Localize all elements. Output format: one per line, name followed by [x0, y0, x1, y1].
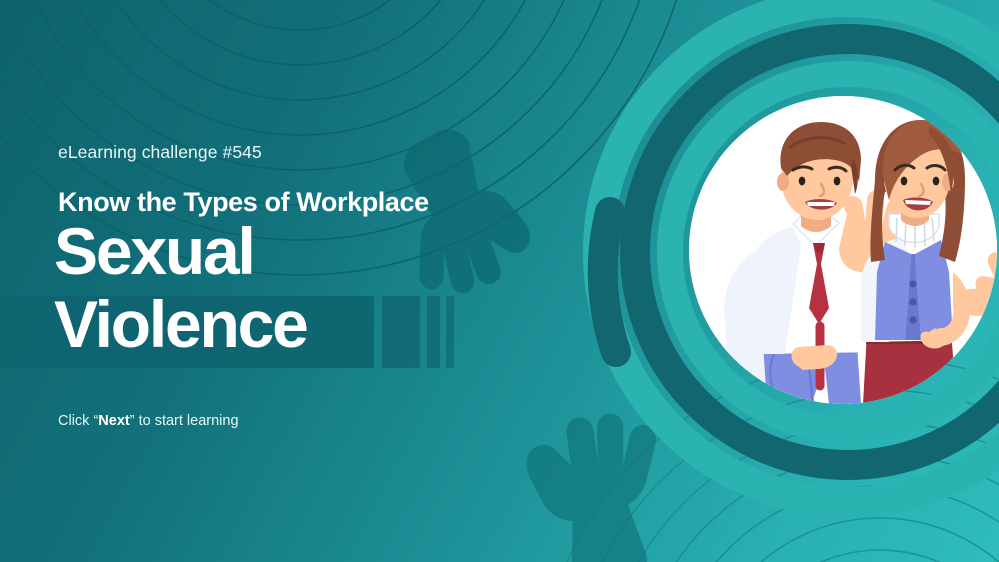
cta-keyword: Next: [98, 413, 129, 429]
cta-suffix: ” to start learning: [130, 413, 239, 429]
title-slide: eLearning challenge #545 Know the Types …: [0, 0, 999, 562]
cta-prefix: Click “: [58, 413, 98, 429]
illustration-circle: [689, 96, 997, 404]
coworkers-arguing-illustration: [689, 96, 997, 404]
cta-instruction[interactable]: Click “Next” to start learning: [58, 413, 239, 429]
